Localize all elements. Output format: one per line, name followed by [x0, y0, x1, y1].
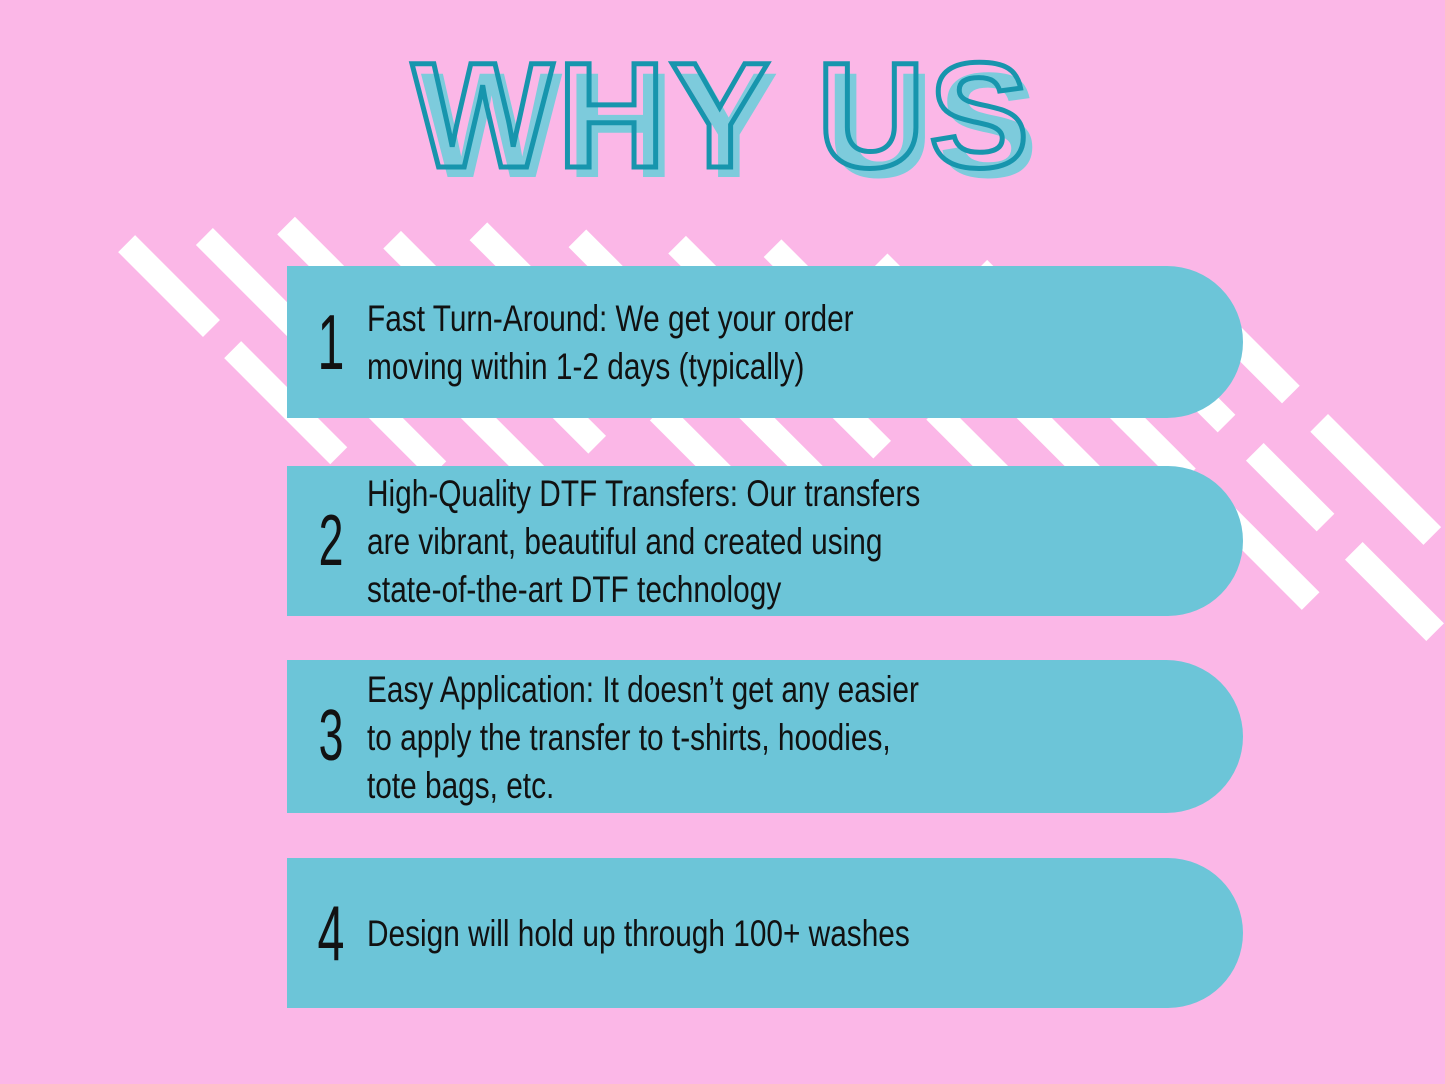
benefit-text-1: Fast Turn-Around: We get your order movi… [367, 294, 1063, 390]
benefit-row-4: 4 Design will hold up through 100+ washe… [287, 858, 1243, 1008]
benefit-row-1: 1 Fast Turn-Around: We get your order mo… [287, 266, 1243, 418]
benefit-row-3: 3 Easy Application: It doesn’t get any e… [287, 660, 1243, 813]
page-title-outline: WHY US [0, 40, 1445, 190]
benefit-number-3: 3 [309, 702, 354, 770]
benefit-row-2: 2 High-Quality DTF Transfers: Our transf… [287, 466, 1243, 616]
benefit-number-2: 2 [309, 507, 354, 575]
benefit-text-4: Design will hold up through 100+ washes [367, 910, 1063, 956]
benefit-number-4: 4 [309, 896, 354, 970]
benefit-text-3: Easy Application: It doesn’t get any eas… [367, 665, 1063, 809]
benefit-number-1: 1 [309, 305, 354, 379]
page-title: WHY US WHY US [0, 40, 1445, 200]
why-us-poster: WHY US WHY US 1 Fast Turn-Around: We get… [0, 0, 1445, 1084]
benefit-text-2: High-Quality DTF Transfers: Our transfer… [367, 469, 1063, 613]
